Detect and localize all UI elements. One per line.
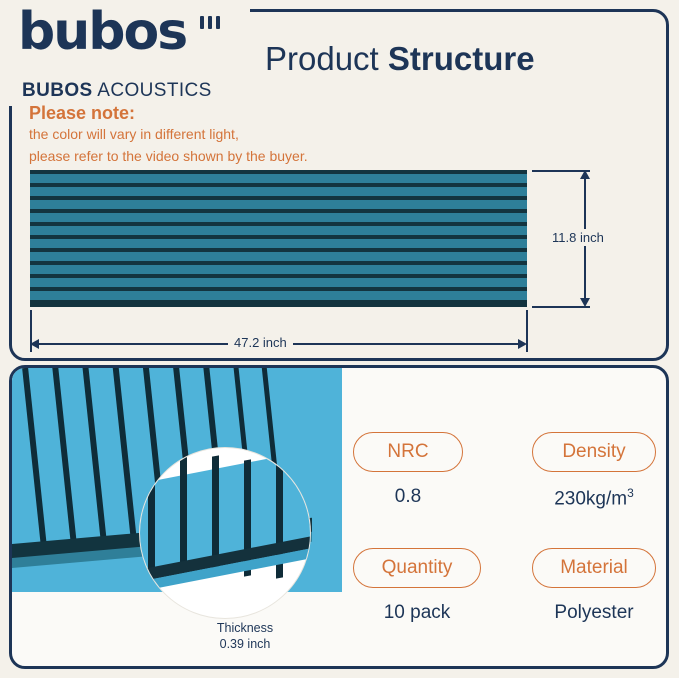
height-dimension-label: 11.8 inch <box>546 229 610 246</box>
acoustic-panel-front-image <box>30 170 527 307</box>
product-structure-infographic: bubos BUBOS ACOUSTICS Product Structure … <box>0 0 679 678</box>
thickness-value: 0.39 inch <box>185 636 305 652</box>
spec-value-quantity: 10 pack <box>353 602 481 624</box>
logo-subtitle-bold: BUBOS <box>22 80 93 101</box>
note-line-1: the color will vary in different light, <box>29 126 239 142</box>
spec-value-material: Polyester <box>532 602 656 624</box>
logo-subtitle: BUBOS ACOUSTICS <box>22 80 212 102</box>
page-title-bold: Structure <box>388 40 535 77</box>
spec-label-quantity: Quantity <box>382 557 453 578</box>
thickness-zoom-callout <box>139 447 311 619</box>
page-title: Product Structure <box>265 40 535 78</box>
page-title-light: Product <box>265 40 388 77</box>
spec-pill-density: Density <box>532 432 656 472</box>
width-dimension-label: 47.2 inch <box>228 334 293 351</box>
spec-pill-nrc: NRC <box>353 432 463 472</box>
spec-label-nrc: NRC <box>387 441 428 462</box>
logo-subtitle-light: ACOUSTICS <box>93 80 212 101</box>
spec-label-density: Density <box>562 441 625 462</box>
thickness-callout-label: Thickness 0.39 inch <box>185 620 305 652</box>
note-heading: Please note: <box>29 103 135 124</box>
brand-logo: bubos BUBOS ACOUSTICS <box>14 4 250 104</box>
spec-pill-material: Material <box>532 548 656 588</box>
spec-pill-quantity: Quantity <box>353 548 481 588</box>
note-line-2: please refer to the video shown by the b… <box>29 148 308 164</box>
logo-bars-icon <box>200 16 234 30</box>
bottom-panel-frame: NRC 0.8 Density 230kg/m3 Quantity 10 pac… <box>9 365 669 669</box>
spec-value-nrc: 0.8 <box>353 486 463 508</box>
spec-value-density: 230kg/m3 <box>532 486 656 510</box>
logo-wordmark: bubos <box>18 4 186 60</box>
thickness-title: Thickness <box>185 620 305 636</box>
spec-label-material: Material <box>560 557 628 578</box>
